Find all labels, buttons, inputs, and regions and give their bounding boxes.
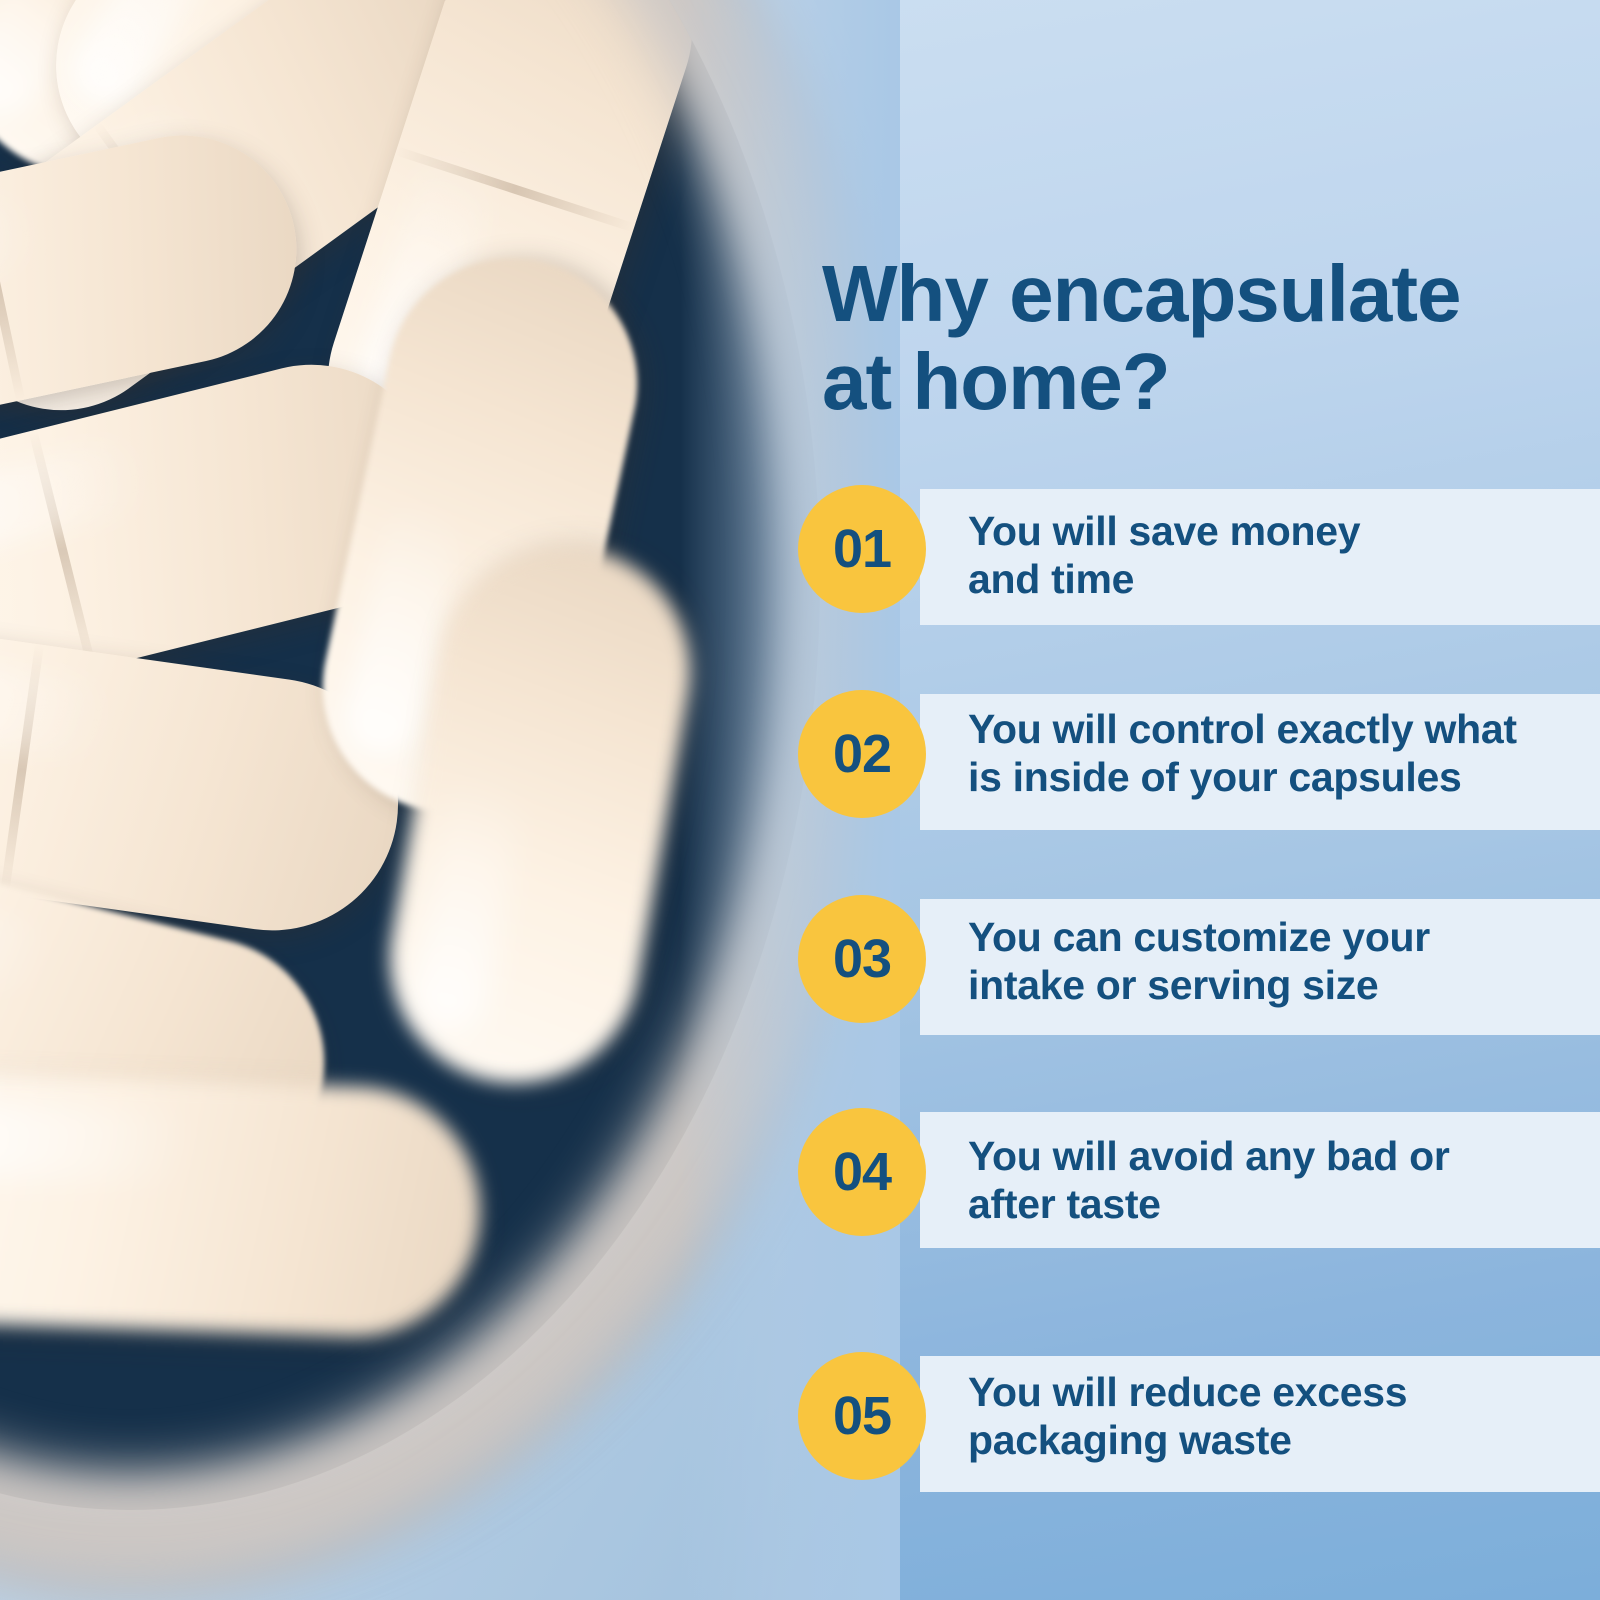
list-item-text-line: You will reduce excess: [968, 1368, 1568, 1416]
list-item-number-badge: 05: [798, 1352, 926, 1480]
infographic-poster: Why encapsulate at home? 01 02 03 04 05 …: [0, 0, 1600, 1600]
list-item-text-line: packaging waste: [968, 1416, 1568, 1464]
list-item-text: You will save money and time: [968, 507, 1568, 604]
list-item-text-line: and time: [968, 555, 1568, 603]
list-item-text-line: after taste: [968, 1180, 1568, 1228]
list-item-number-badge: 02: [798, 690, 926, 818]
list-item-text-line: is inside of your capsules: [968, 753, 1568, 801]
list-item-text: You will control exactly what is inside …: [968, 705, 1568, 802]
list-item-text-line: You can customize your: [968, 913, 1568, 961]
list-item-text: You can customize your intake or serving…: [968, 913, 1568, 1010]
list-item-text: You will reduce excess packaging waste: [968, 1368, 1568, 1465]
list-item-text-line: intake or serving size: [968, 961, 1568, 1009]
list-item-text-line: You will avoid any bad or: [968, 1132, 1568, 1180]
list-item-number-badge: 01: [798, 485, 926, 613]
list-item-number-badge: 04: [798, 1108, 926, 1236]
list-item-number-badge: 03: [798, 895, 926, 1023]
list-item-text-line: You will control exactly what: [968, 705, 1568, 753]
benefits-list: 01 02 03 04 05 You will save money and t…: [0, 0, 1600, 1600]
list-item-text-line: You will save money: [968, 507, 1568, 555]
list-item-text: You will avoid any bad or after taste: [968, 1132, 1568, 1229]
